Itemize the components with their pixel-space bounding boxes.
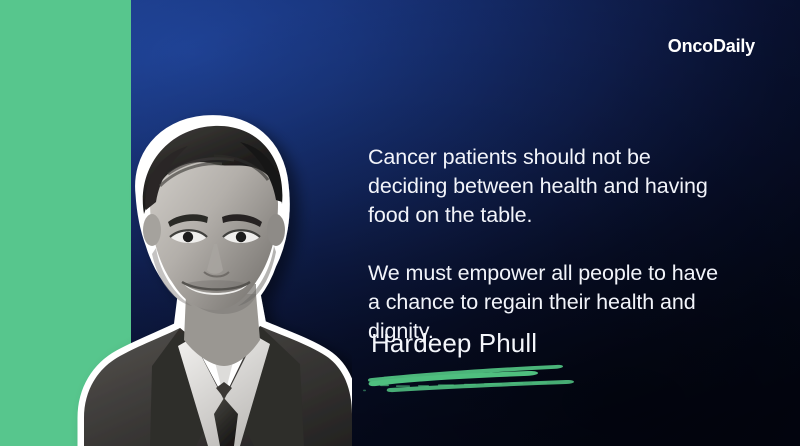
brand-logo: OncoDaily [668, 37, 755, 55]
quote-text-block: Cancer patients should not be deciding b… [368, 143, 733, 346]
portrait-image [64, 98, 352, 446]
attribution-block: Hardeep Phull [371, 326, 671, 360]
speaker-name: Hardeep Phull [371, 326, 671, 360]
quote-paragraph-1: Cancer patients should not be deciding b… [368, 143, 733, 230]
quote-card: OncoDaily [0, 0, 800, 446]
